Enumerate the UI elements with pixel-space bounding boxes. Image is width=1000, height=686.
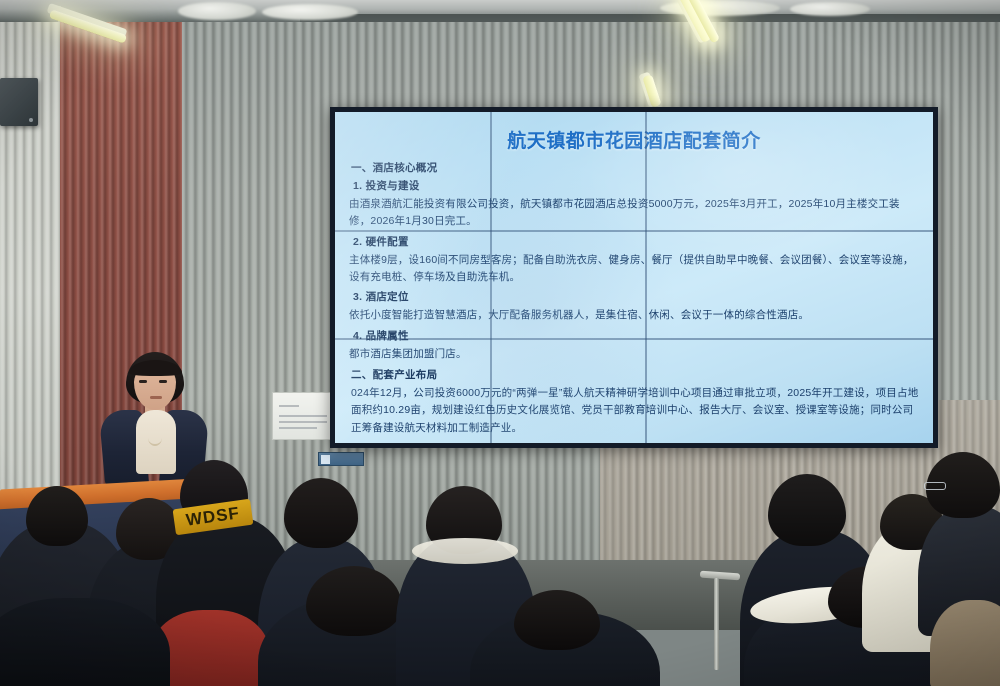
slide-subheading-1-4: 4. 品牌属性	[353, 328, 921, 343]
presenter-eye-right	[159, 380, 167, 383]
screen-surface[interactable]: 航天镇都市花园酒店配套简介 一、酒店核心概况 1. 投资与建设 由酒泉酒航汇能投…	[335, 112, 933, 443]
slide-body-1-3: 依托小度智能打造智慧酒店，大厅配备服务机器人，是集住宿、休闲、会议于一体的综合性…	[349, 307, 921, 324]
slide-body-1-2: 主体楼9层，设160间不同房型客房；配备自助洗衣房、健身房、餐厅（提供自助早中晚…	[349, 252, 921, 287]
presentation-slide: 航天镇都市花园酒店配套简介 一、酒店核心概况 1. 投资与建设 由酒泉酒航汇能投…	[335, 112, 933, 443]
slide-subheading-1-3: 3. 酒店定位	[353, 289, 921, 304]
glasses-icon	[924, 482, 946, 490]
slide-body-1-4: 都市酒店集团加盟门店。	[349, 346, 921, 363]
lcd-video-wall[interactable]: 航天镇都市花园酒店配套简介 一、酒店核心概况 1. 投资与建设 由酒泉酒航汇能投…	[330, 107, 938, 448]
presenter-eye-left	[139, 380, 147, 383]
notice-text-line	[279, 427, 317, 429]
attendee-hood-fur	[412, 538, 518, 564]
slide-body-2-1: 024年12月，公司投资6000万元的“两弹一星”载人航天精神研学培训中心项目通…	[351, 385, 921, 437]
presenter-mouth	[150, 396, 162, 399]
panel-seam-vertical-2	[645, 112, 647, 443]
chair-leg-1	[714, 578, 719, 670]
slide-subheading-1-2: 2. 硬件配置	[353, 234, 921, 249]
attendee-bottom-right-center	[470, 590, 660, 686]
attendee-head	[768, 474, 846, 546]
notice-text-line	[279, 415, 327, 417]
wall-speaker	[0, 78, 38, 126]
ceiling-duct-blob-left	[178, 2, 256, 20]
panel-seam-horizontal-1	[335, 230, 933, 232]
panel-seam-vertical-1	[490, 112, 492, 443]
attendee-head	[306, 566, 402, 636]
presentation-room-photo: 航天镇都市花园酒店配套简介 一、酒店核心概况 1. 投资与建设 由酒泉酒航汇能投…	[0, 0, 1000, 686]
attendee-far-right-glasses	[918, 452, 1000, 612]
slide-section-heading-1: 一、酒店核心概况	[351, 160, 921, 175]
wall-blue-sign	[318, 452, 364, 466]
wall-notice-paper	[272, 392, 334, 440]
attendee-head	[26, 486, 88, 546]
attendee-tan-coat	[930, 600, 1000, 686]
sign-icon	[321, 455, 330, 464]
attendee-head	[514, 590, 600, 650]
ceiling-duct-blob-mid	[262, 4, 358, 20]
slide-title: 航天镇都市花园酒店配套简介	[347, 126, 921, 153]
notice-text-line	[279, 405, 299, 407]
slide-subheading-1-1: 1. 投资与建设	[353, 178, 921, 193]
notice-text-line	[279, 421, 327, 423]
slide-body-1-1: 由酒泉酒航汇能投资有限公司投资，航天镇都市花园酒店总投资5000万元，2025年…	[349, 196, 921, 231]
presenter-necklace	[148, 430, 162, 446]
speaker-led-icon	[29, 118, 33, 122]
attendee-body	[0, 598, 170, 686]
attendee-body	[930, 600, 1000, 686]
ceiling-duct-blob-far-right	[790, 2, 870, 16]
attendee-bottom-far-left	[0, 598, 170, 686]
slide-section-heading-2: 二、配套产业布局	[351, 367, 921, 382]
attendee-head	[284, 478, 358, 548]
panel-seam-horizontal-2	[335, 338, 933, 340]
